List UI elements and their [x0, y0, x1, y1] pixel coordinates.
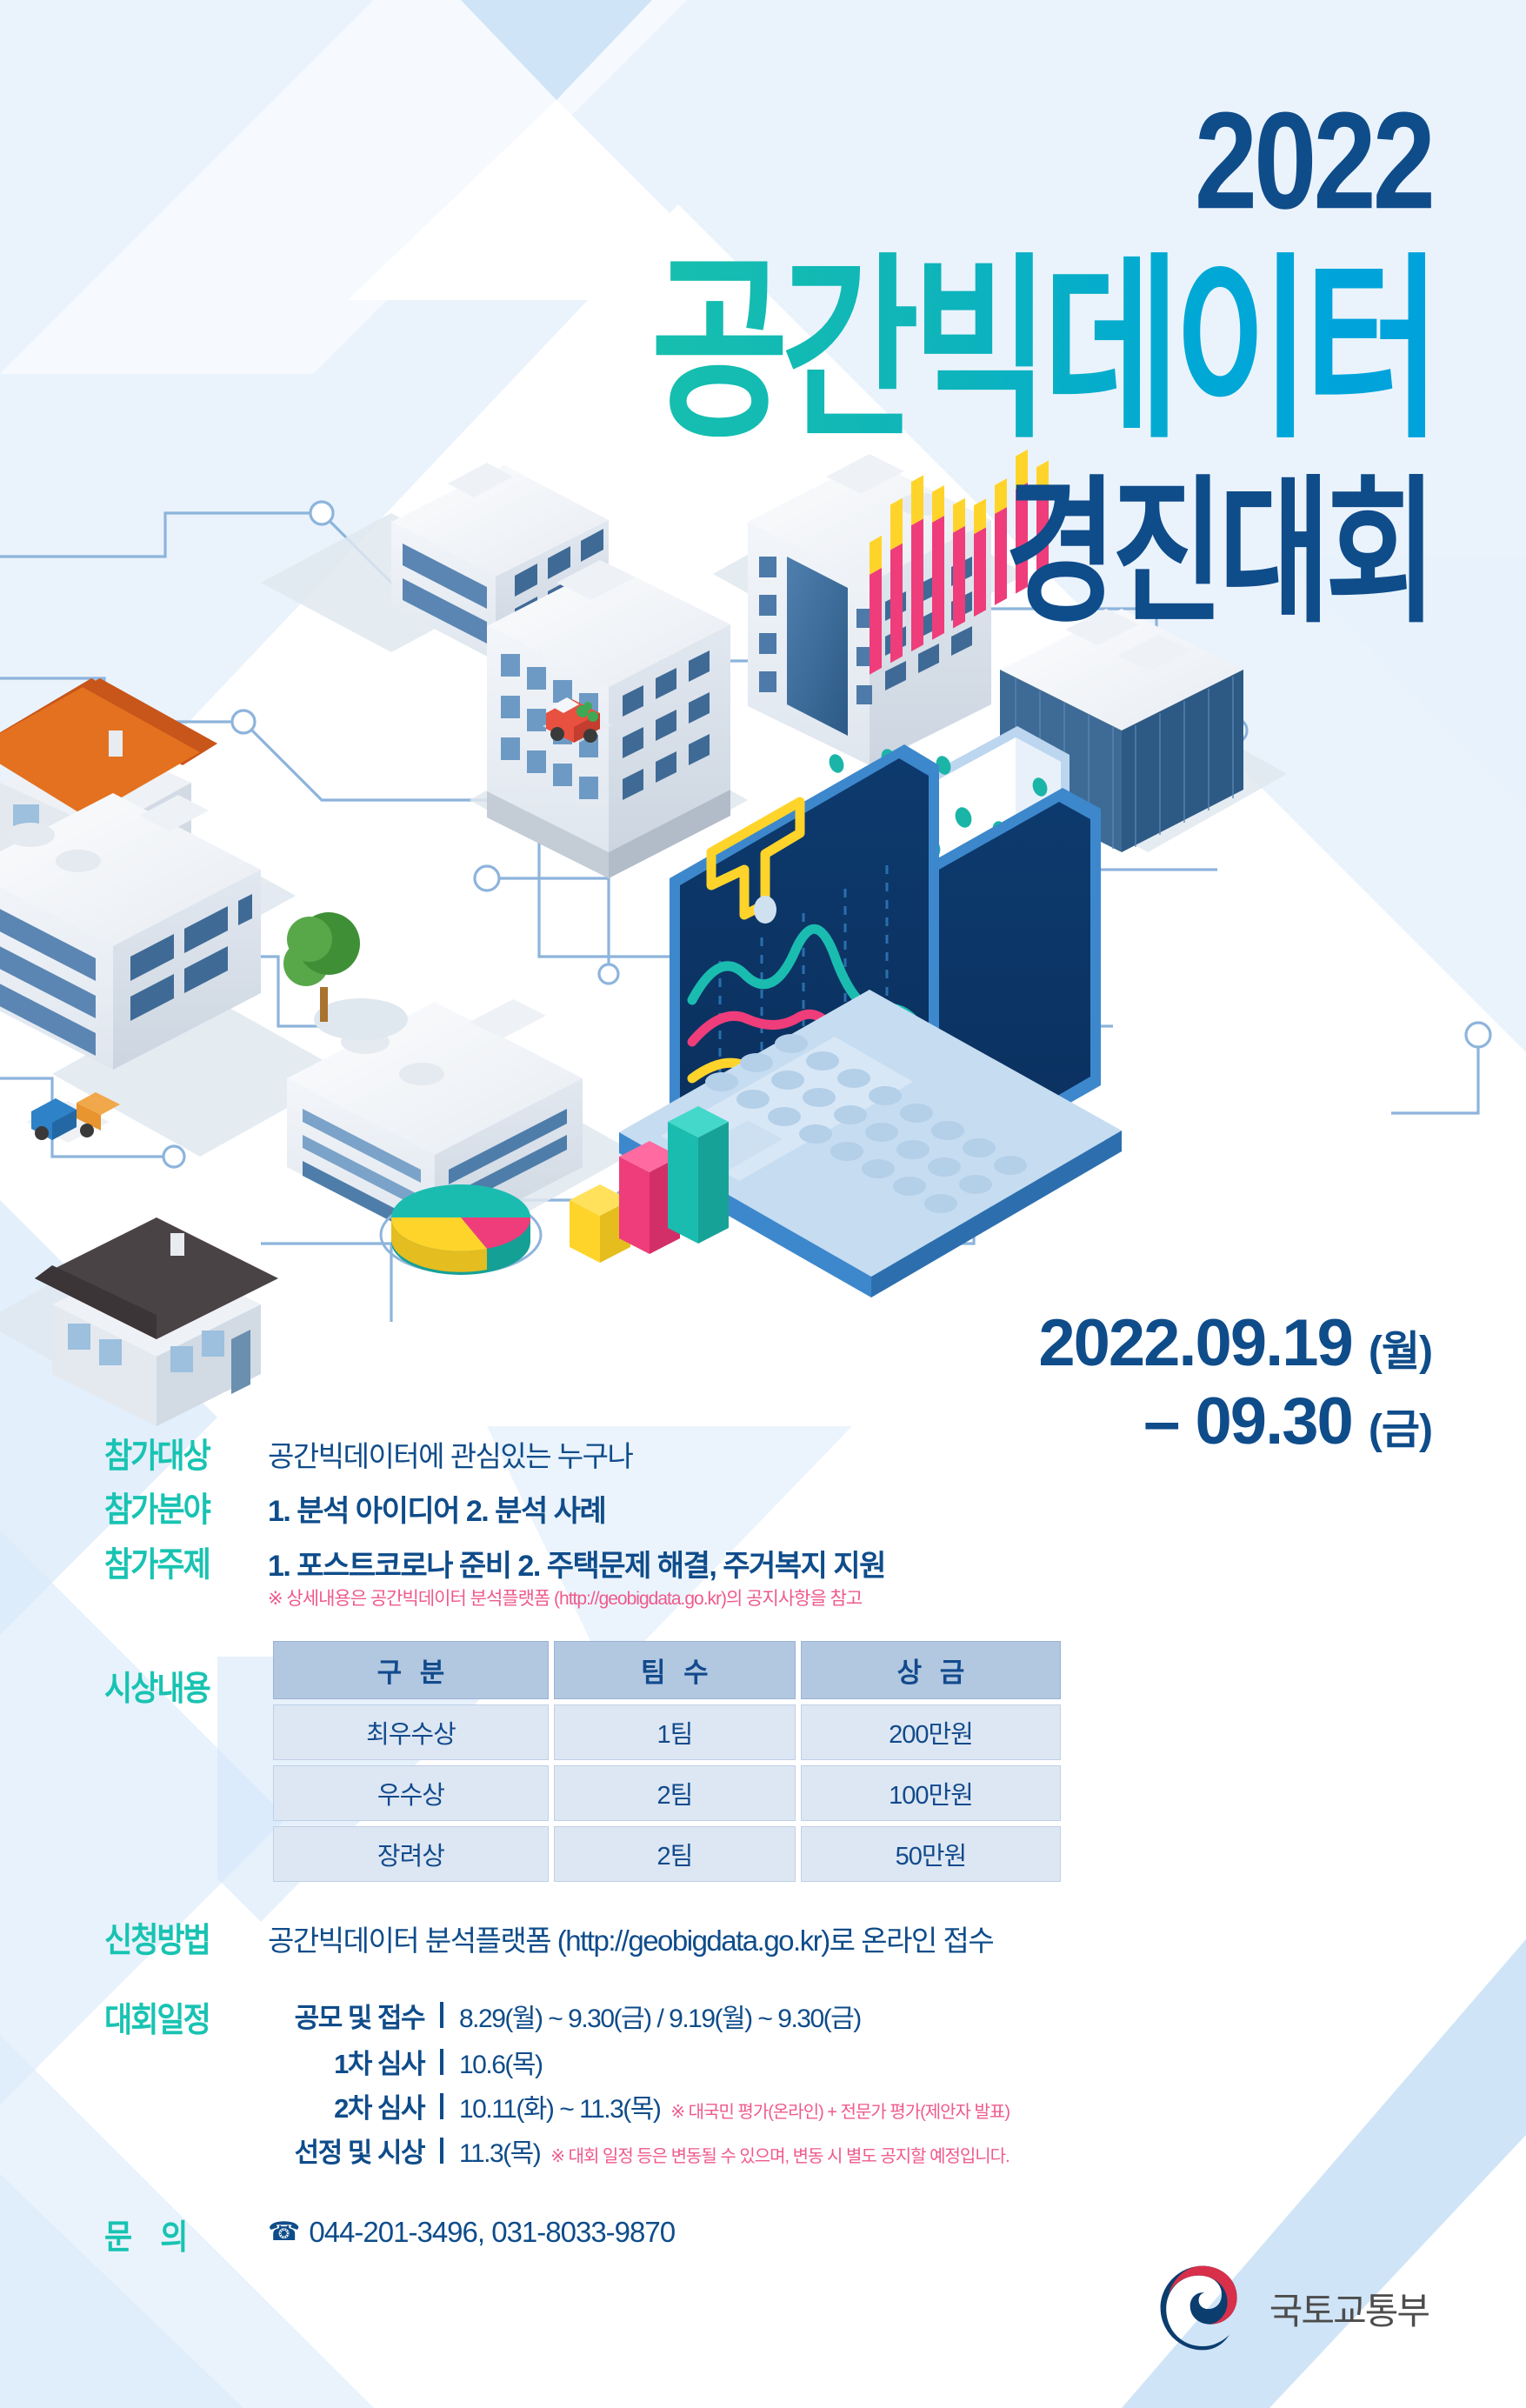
prize-cell-category: 최우수상: [273, 1704, 549, 1760]
event-date-start-line: 2022.09.19 (월): [1038, 1304, 1432, 1383]
schedule-row: 선정 및 시상 11.3(목) ※ 대회 일정 등은 변동될 수 있으며, 변동…: [104, 2131, 1104, 2170]
info-row-target: 참가대상 공간빅데이터에 관심있는 누구나: [104, 1439, 1104, 1473]
schedule-divider: [440, 2002, 443, 2028]
schedule-value: 8.29(월) ~ 9.30(금) / 9.19(월) ~ 9.30(금): [459, 1997, 861, 2035]
label-apply-method: 신청방법: [104, 1924, 268, 1959]
poster-title-main: 공간빅데이터: [651, 252, 1435, 450]
schedule-value: 10.11(화) ~ 11.3(목): [459, 2087, 660, 2125]
prize-col-teams: 팀 수: [554, 1641, 796, 1699]
prize-cell-teams: 2팀: [554, 1765, 796, 1821]
label-schedule: 대회일정: [104, 1992, 268, 2042]
event-date-start-dow: (월): [1369, 1329, 1432, 1375]
prize-cell-amount: 200만원: [801, 1704, 1061, 1760]
label-participation-topic: 참가주제: [104, 1548, 268, 1584]
label-participation-target: 참가대상: [104, 1439, 268, 1475]
info-section: 참가대상 공간빅데이터에 관심있는 누구나 참가분야 1. 분석 아이디어 2.…: [104, 1439, 1104, 2254]
prize-table-header-row: 구 분 팀 수 상 금: [273, 1641, 1061, 1699]
taegeuk-logo: [1155, 2260, 1250, 2356]
schedule-divider: [440, 2138, 443, 2164]
value-participation-topic: 1. 포스트코로나 준비 2. 주택문제 해결, 주거복지 지원: [268, 1548, 885, 1583]
table-row: 우수상 2팀 100만원: [273, 1765, 1061, 1821]
schedule-value: 11.3(목): [459, 2131, 540, 2170]
label-participation-field: 참가분야: [104, 1493, 268, 1529]
schedule-row: 1차 심사 10.6(목): [104, 2042, 1104, 2081]
schedule-divider: [440, 2093, 443, 2119]
prize-cell-amount: 50만원: [801, 1826, 1061, 1882]
schedule-note: ※ 대회 일정 등은 변동될 수 있으며, 변동 시 별도 공지할 예정입니다.: [550, 2142, 1009, 2167]
table-row: 최우수상 1팀 200만원: [273, 1704, 1061, 1760]
info-row-field: 참가분야 1. 분석 아이디어 2. 분석 사례: [104, 1493, 1104, 1528]
ministry-name: 국토교통부: [1269, 2282, 1429, 2335]
schedule-row: 대회일정 공모 및 접수 8.29(월) ~ 9.30(금) / 9.19(월)…: [104, 1992, 1104, 2037]
prize-section: 시상내용 구 분 팀 수 상 금 최우수상 1팀 200만원: [104, 1636, 1104, 1887]
prize-col-amount: 상 금: [801, 1641, 1061, 1699]
info-row-topic: 참가주제 1. 포스트코로나 준비 2. 주택문제 해결, 주거복지 지원 ※ …: [104, 1548, 1104, 1610]
info-row-apply: 신청방법 공간빅데이터 분석플랫폼 (http://geobigdata.go.…: [104, 1924, 1104, 1958]
prize-cell-amount: 100만원: [801, 1765, 1061, 1821]
value-contact-phone: 044-201-3496, 031-8033-9870: [309, 2216, 675, 2249]
value-apply-method: 공간빅데이터 분석플랫폼 (http://geobigdata.go.kr)로 …: [268, 1924, 993, 1958]
event-date-end-dow: (금): [1369, 1407, 1432, 1453]
value-participation-target: 공간빅데이터에 관심있는 누구나: [268, 1439, 632, 1473]
poster-root: 2022 공간빅데이터 경진대회 2022.09.19 (월) – 09.30 …: [0, 0, 1526, 2408]
note-participation-topic: ※ 상세내용은 공간빅데이터 분석플랫폼 (http://geobigdata.…: [268, 1589, 885, 1610]
phone-icon: ☎: [268, 2217, 300, 2247]
prize-col-category: 구 분: [273, 1641, 549, 1699]
schedule-row: 2차 심사 10.11(화) ~ 11.3(목) ※ 대국민 평가(온라인) +…: [104, 2086, 1104, 2125]
schedule-section: 대회일정 공모 및 접수 8.29(월) ~ 9.30(금) / 9.19(월)…: [104, 1992, 1104, 2170]
label-prize: 시상내용: [104, 1636, 268, 1711]
schedule-divider: [440, 2049, 443, 2075]
schedule-key: 2차 심사: [268, 2086, 440, 2125]
prize-cell-teams: 2팀: [554, 1826, 796, 1882]
table-row: 장려상 2팀 50만원: [273, 1826, 1061, 1882]
topic-value-wrap: 1. 포스트코로나 준비 2. 주택문제 해결, 주거복지 지원 ※ 상세내용은…: [268, 1548, 885, 1610]
prize-table: 구 분 팀 수 상 금 최우수상 1팀 200만원 우수상 2팀 100만원: [268, 1636, 1066, 1887]
schedule-value: 10.6(목): [459, 2043, 542, 2081]
event-date-block: 2022.09.19 (월) – 09.30 (금): [1038, 1304, 1432, 1460]
prize-cell-category: 우수상: [273, 1765, 549, 1821]
prize-cell-teams: 1팀: [554, 1704, 796, 1760]
schedule-key: 1차 심사: [268, 2042, 440, 2081]
contact-section: 문의 ☎ 044-201-3496, 031-8033-9870: [104, 2210, 1104, 2254]
event-date-end: – 09.30: [1143, 1384, 1352, 1458]
poster-year: 2022: [1195, 91, 1432, 230]
poster-title-sub: 경진대회: [1005, 474, 1432, 632]
prize-cell-category: 장려상: [273, 1826, 549, 1882]
value-participation-field: 1. 분석 아이디어 2. 분석 사례: [268, 1493, 605, 1528]
schedule-note: ※ 대국민 평가(온라인) + 전문가 평가(제안자 발표): [670, 2098, 1010, 2123]
schedule-key: 선정 및 시상: [268, 2131, 440, 2170]
label-contact: 문의: [104, 2210, 268, 2259]
schedule-key: 공모 및 접수: [268, 1996, 440, 2035]
ministry-logo-block: 국토교통부: [1155, 2260, 1429, 2356]
event-date-start: 2022.09.19: [1038, 1306, 1351, 1380]
